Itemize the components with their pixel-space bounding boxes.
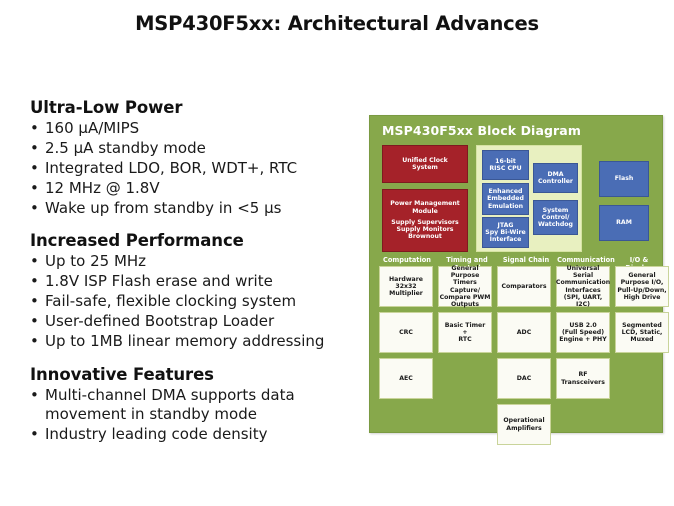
- block-text-line: JTAG: [498, 222, 514, 229]
- block-text-line: Communication: [556, 279, 610, 286]
- block-embedded-emulation: EnhancedEmbeddedEmulation: [482, 183, 529, 215]
- bullet-item: •160 µA/MIPS: [30, 119, 360, 138]
- bullet-item: •Up to 1MB linear memory addressing: [30, 332, 360, 351]
- block-text-line: Muxed: [630, 336, 653, 343]
- block-text-line: 32x32: [395, 283, 416, 290]
- bullet-item-text: 1.8V ISP Flash erase and write: [45, 272, 360, 291]
- bullet-item: •Integrated LDO, BOR, WDT+, RTC: [30, 159, 360, 178]
- bullet-dot-icon: •: [30, 179, 45, 198]
- block-text-line: High Drive: [624, 294, 661, 301]
- block-text-line: System: [412, 164, 438, 171]
- bullet-item-text: Fail-safe, flexible clocking system: [45, 292, 360, 311]
- bullet-item: •2.5 µA standby mode: [30, 139, 360, 158]
- block-text-line: Control/: [542, 214, 570, 221]
- block-text-line: AEC: [399, 375, 413, 382]
- bullet-item-text: Multi-channel DMA supports data movement…: [45, 386, 360, 424]
- block-text-line: Module: [412, 208, 438, 215]
- block-flash: Flash: [599, 161, 649, 197]
- bullet-list-column: Ultra-Low Power•160 µA/MIPS•2.5 µA stand…: [30, 98, 360, 458]
- grid-cell-comparators: Comparators: [497, 266, 551, 307]
- grid-cell-usb: USB 2.0(Full Speed)Engine + PHY: [556, 312, 610, 353]
- block-text-line: ADC: [517, 329, 531, 336]
- bullet-item: •Up to 25 MHz: [30, 252, 360, 271]
- block-text-line: General Purpose: [439, 265, 491, 280]
- grid-cell-operational-amplifiers: OperationalAmplifiers: [497, 404, 551, 445]
- block-text-line: Embedded: [487, 195, 524, 202]
- bullet-item-text: Industry leading code density: [45, 425, 360, 444]
- block-system-control-watchdog: SystemControl/Watchdog: [533, 200, 578, 235]
- block-text-line: Interfaces: [565, 287, 600, 294]
- bullet-dot-icon: •: [30, 332, 45, 351]
- bullet-item-text: User-defined Bootstrap Loader: [45, 312, 360, 331]
- block-text-line: +: [462, 329, 467, 336]
- block-text-line: DAC: [517, 375, 531, 382]
- grid-cell-general-purpose-io: GeneralPurpose I/O,Pull-Up/Down,High Dri…: [615, 266, 669, 307]
- column-header-computation: Computation: [379, 256, 435, 264]
- block-text-line: Supply Monitors: [397, 226, 454, 233]
- bullet-item: •User-defined Bootstrap Loader: [30, 312, 360, 331]
- block-text-line: Compare PWM: [440, 294, 491, 301]
- block-text-line: Operational: [503, 417, 544, 424]
- block-text-line: Unified Clock: [402, 157, 448, 164]
- bullet-dot-icon: •: [30, 386, 45, 405]
- bullet-item: •Wake up from standby in <5 µs: [30, 199, 360, 218]
- block-text-line: DMA: [547, 171, 563, 178]
- block-text-line: Hardware: [389, 276, 423, 283]
- block-text-line: System: [543, 207, 569, 214]
- bullet-group: Innovative Features•Multi-channel DMA su…: [30, 365, 360, 444]
- column-header-communication: Communication: [556, 256, 616, 264]
- block-power-management: Power ManagementModuleSupply Supervisors…: [382, 189, 468, 252]
- block-text-line: Flash: [615, 175, 634, 182]
- block-text-line: General: [628, 272, 655, 279]
- grid-cell-hardware-multiplier: Hardware32x32Multiplier: [379, 266, 433, 307]
- block-text-line: Multiplier: [389, 290, 423, 297]
- bullet-item-text: Up to 25 MHz: [45, 252, 360, 271]
- bullet-item-text: Integrated LDO, BOR, WDT+, RTC: [45, 159, 360, 178]
- bullet-group-heading: Ultra-Low Power: [30, 98, 360, 117]
- grid-cell-segmented-lcd: SegmentedLCD, Static,Muxed: [615, 312, 669, 353]
- bullet-dot-icon: •: [30, 312, 45, 331]
- block-text-line: Interface: [490, 236, 522, 243]
- block-text-line: (SPI, UART, I2C): [557, 294, 609, 309]
- block-text-line: LCD, Static,: [622, 329, 663, 336]
- bullet-dot-icon: •: [30, 272, 45, 291]
- page-title: MSP430F5xx: Architectural Advances: [0, 12, 674, 35]
- block-text-line: Segmented: [622, 322, 662, 329]
- block-unified-clock-system: Unified ClockSystem: [382, 145, 468, 183]
- block-text-line: Engine + PHY: [559, 336, 606, 343]
- grid-cell-rf-transceivers: RF Transceivers: [556, 358, 610, 399]
- block-text-line: Purpose I/O,: [621, 279, 664, 286]
- bullet-dot-icon: •: [30, 139, 45, 158]
- bullet-dot-icon: •: [30, 159, 45, 178]
- block-text-line: RTC: [458, 336, 471, 343]
- block-text-line: Enhanced: [489, 188, 523, 195]
- column-header-signal-chain: Signal Chain: [499, 256, 553, 264]
- bullet-group-heading: Increased Performance: [30, 231, 360, 250]
- block-text-line: Timers Capture/: [439, 279, 491, 294]
- block-diagram-title: MSP430F5xx Block Diagram: [382, 123, 581, 138]
- grid-cell-general-purpose-timers: General PurposeTimers Capture/Compare PW…: [438, 266, 492, 307]
- block-text-line: RAM: [616, 219, 632, 226]
- block-text-line: Comparators: [501, 283, 546, 290]
- block-jtag-spy-bi-wire: JTAGSpy Bi-WireInterface: [482, 217, 529, 248]
- block-ram: RAM: [599, 205, 649, 241]
- block-text-line: Brownout: [408, 233, 442, 240]
- grid-cell-usci: Universal SerialCommunicationInterfaces(…: [556, 266, 610, 307]
- block-text-line: Pull-Up/Down,: [617, 287, 666, 294]
- block-dma-controller: DMAController: [533, 163, 578, 193]
- bullet-group: Increased Performance•Up to 25 MHz•1.8V …: [30, 231, 360, 350]
- block-text-line: Spy Bi-Wire: [485, 229, 525, 236]
- bullet-item-text: Up to 1MB linear memory addressing: [45, 332, 360, 351]
- bullet-group-heading: Innovative Features: [30, 365, 360, 384]
- block-text-line: RF Transceivers: [557, 371, 609, 386]
- bullet-item-text: 12 MHz @ 1.8V: [45, 179, 360, 198]
- bullet-dot-icon: •: [30, 292, 45, 311]
- block-text-line: Watchdog: [538, 221, 573, 228]
- block-text-line: Universal Serial: [557, 265, 609, 280]
- block-text-line: Controller: [538, 178, 573, 185]
- bullet-item: •1.8V ISP Flash erase and write: [30, 272, 360, 291]
- bullet-dot-icon: •: [30, 252, 45, 271]
- block-text-line: Supply Supervisors: [391, 219, 458, 226]
- block-text-line: 16-bit: [495, 158, 516, 165]
- bullet-item-text: 2.5 µA standby mode: [45, 139, 360, 158]
- bullet-item: •Industry leading code density: [30, 425, 360, 444]
- block-text-line: RISC CPU: [489, 165, 521, 172]
- block-diagram-panel: MSP430F5xx Block Diagram Unified ClockSy…: [369, 115, 663, 433]
- block-text-line: (Full Speed): [562, 329, 604, 336]
- block-text-line: Power Management: [390, 200, 459, 207]
- bullet-item: •12 MHz @ 1.8V: [30, 179, 360, 198]
- bullet-group: Ultra-Low Power•160 µA/MIPS•2.5 µA stand…: [30, 98, 360, 217]
- block-risc-cpu: 16-bitRISC CPU: [482, 150, 529, 180]
- grid-cell-crc: CRC: [379, 312, 433, 353]
- bullet-dot-icon: •: [30, 199, 45, 218]
- block-text-line: Basic Timer: [445, 322, 486, 329]
- grid-cell-dac: DAC: [497, 358, 551, 399]
- block-text-line: Emulation: [488, 203, 523, 210]
- block-text-line: USB 2.0: [569, 322, 596, 329]
- grid-cell-adc: ADC: [497, 312, 551, 353]
- block-text-line: Amplifiers: [506, 425, 541, 432]
- bullet-dot-icon: •: [30, 425, 45, 444]
- bullet-item-text: Wake up from standby in <5 µs: [45, 199, 360, 218]
- bullet-dot-icon: •: [30, 119, 45, 138]
- bullet-item: •Fail-safe, flexible clocking system: [30, 292, 360, 311]
- block-text-line: CRC: [399, 329, 413, 336]
- grid-cell-aec: AEC: [379, 358, 433, 399]
- bullet-item: •Multi-channel DMA supports data movemen…: [30, 386, 360, 424]
- grid-cell-basic-timer-rtc: Basic Timer+RTC: [438, 312, 492, 353]
- block-text-line: Outputs: [451, 301, 479, 308]
- bullet-item-text: 160 µA/MIPS: [45, 119, 360, 138]
